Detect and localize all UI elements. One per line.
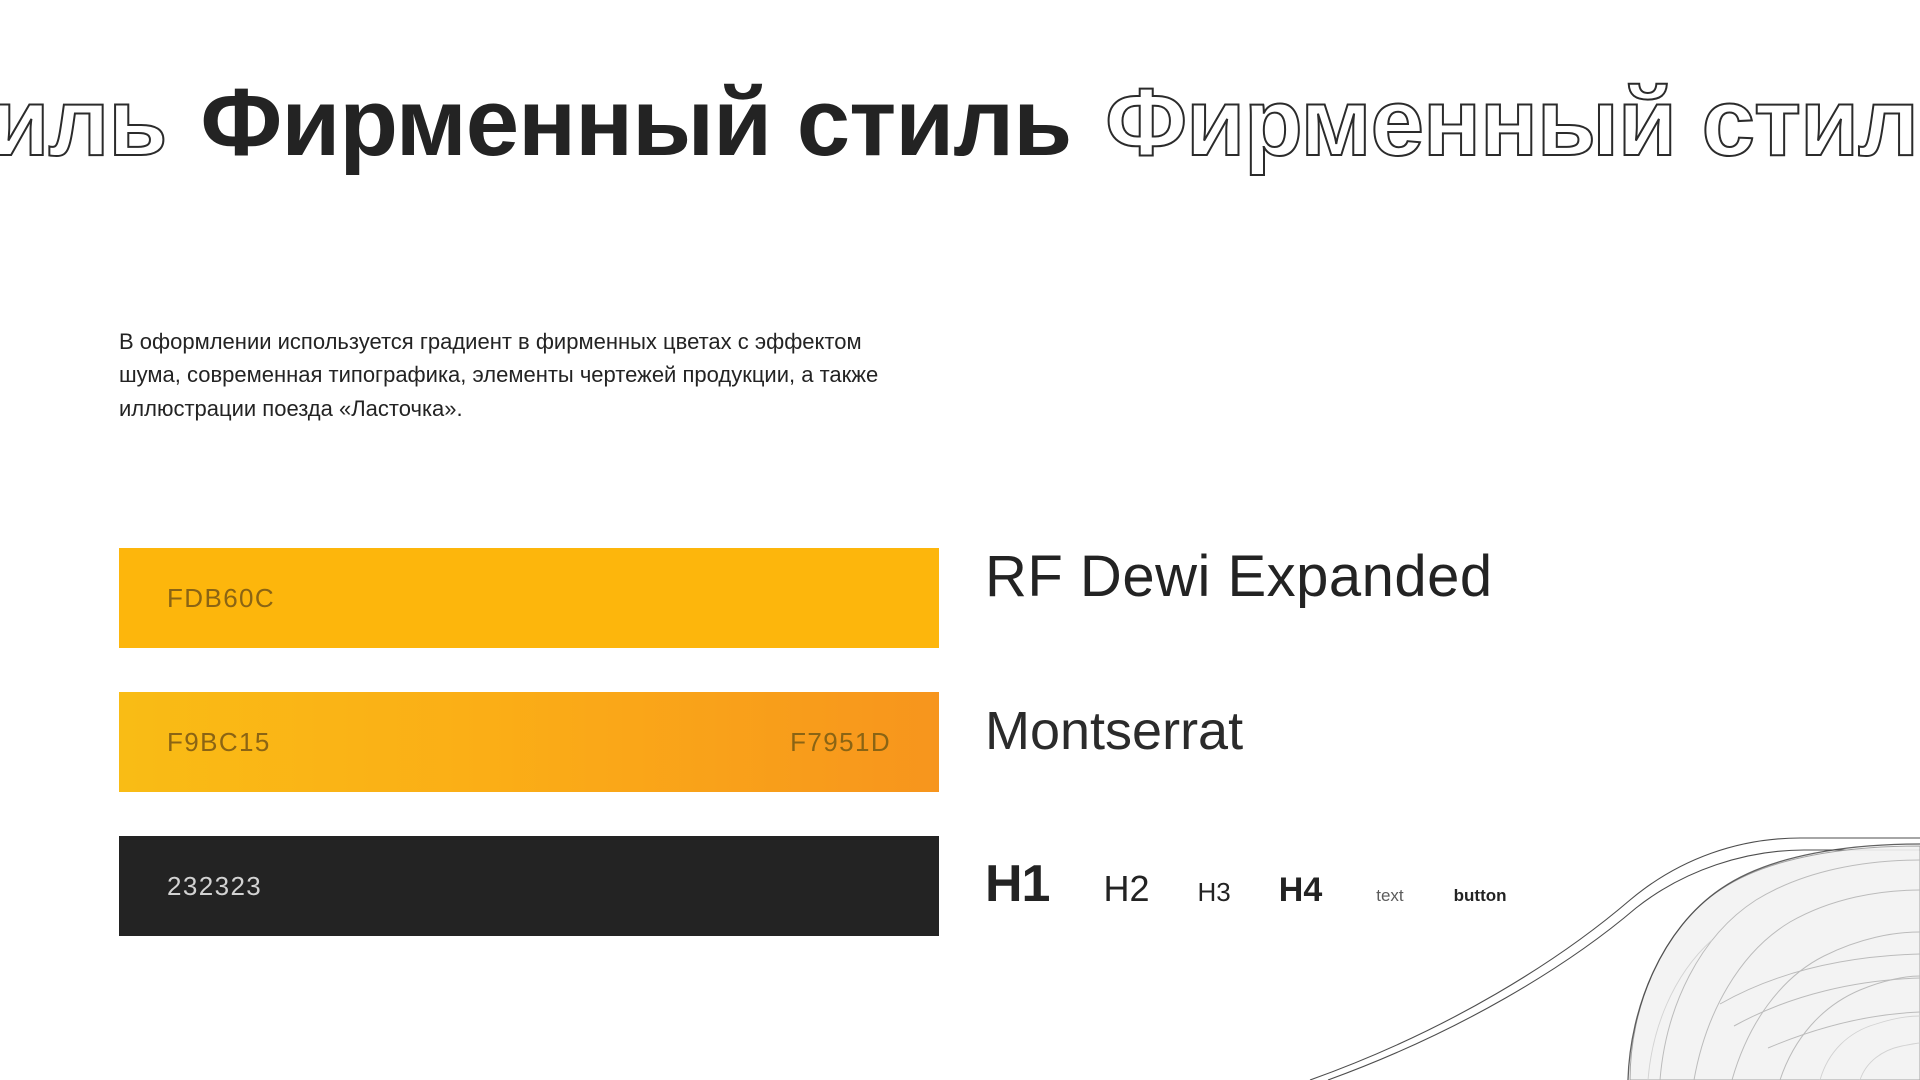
type-scale-h2: H2 xyxy=(1103,868,1149,910)
type-scale-row: H1 H2 H3 H4 text button xyxy=(985,854,1865,914)
page-title: Фирменный стиль xyxy=(200,75,1105,171)
secondary-typeface-name: Montserrat xyxy=(985,704,1865,758)
intro-paragraph: В оформлении используется градиент в фир… xyxy=(119,325,889,425)
swatch-primary-yellow[interactable]: FDB60C xyxy=(119,548,939,648)
type-scale-h4: H4 xyxy=(1279,871,1322,910)
intro-description: В оформлении используется градиент в фир… xyxy=(119,325,889,425)
type-scale-h3: H3 xyxy=(1198,877,1231,908)
marquee-word-outline-left: стиль xyxy=(0,75,200,171)
swatch-brand-gradient[interactable]: F9BC15 F7951D xyxy=(119,692,939,792)
swatch-label-primary-yellow: FDB60C xyxy=(167,583,275,614)
brand-style-slide: стиль Фирменный стиль Фирменный стиль В … xyxy=(0,0,1920,1080)
swatch-label-brand-black: 232323 xyxy=(167,871,262,902)
swatch-label-gradient-start: F9BC15 xyxy=(167,727,271,758)
marquee-track: стиль Фирменный стиль Фирменный стиль xyxy=(0,75,1920,171)
swatch-label-gradient-end: F7951D xyxy=(790,727,891,758)
type-scale-h1: H1 xyxy=(985,854,1049,914)
swatch-brand-black[interactable]: 232323 xyxy=(119,836,939,936)
primary-typeface-name: RF Dewi Expanded xyxy=(985,548,1865,606)
color-palette: FDB60C F9BC15 F7951D 232323 xyxy=(119,548,939,936)
marquee-title-band: стиль Фирменный стиль Фирменный стиль xyxy=(0,58,1920,188)
type-scale-text: text xyxy=(1376,886,1403,906)
typography-section: RF Dewi Expanded Montserrat H1 H2 H3 H4 … xyxy=(985,548,1865,914)
marquee-word-outline-right: Фирменный стиль xyxy=(1105,75,1920,171)
type-scale-button: button xyxy=(1454,886,1507,906)
